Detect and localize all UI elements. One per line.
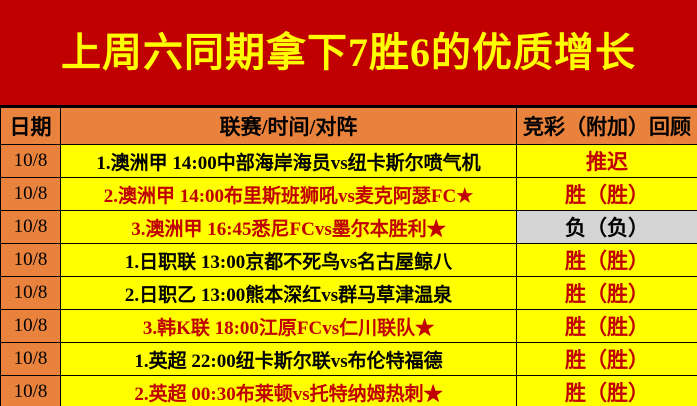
page-title: 上周六同期拿下7胜6的优质增长 bbox=[61, 33, 636, 73]
cell-match: 1.日职联 13:00京都不死鸟vs名古屋鲸八 bbox=[61, 244, 517, 277]
cell-date: 10/8 bbox=[1, 178, 61, 211]
table-body: 10/81.澳洲甲 14:00中部海岸海员vs纽卡斯尔喷气机推迟10/82.澳洲… bbox=[1, 145, 697, 406]
cell-match: 3.韩K联 18:00江原FCvs仁川联队★ bbox=[61, 310, 517, 343]
fixtures-table: 日期 联赛/时间/对阵 竞彩（附加）回顾 10/81.澳洲甲 14:00中部海岸… bbox=[0, 107, 697, 406]
cell-result: 胜（胜） bbox=[517, 244, 697, 277]
cell-date: 10/8 bbox=[1, 310, 61, 343]
column-header-date: 日期 bbox=[1, 108, 61, 145]
table-row: 10/82.日职乙 13:00熊本深红vs群马草津温泉胜（胜） bbox=[1, 277, 697, 310]
table-row: 10/81.日职联 13:00京都不死鸟vs名古屋鲸八胜（胜） bbox=[1, 244, 697, 277]
table-header-row: 日期 联赛/时间/对阵 竞彩（附加）回顾 bbox=[1, 108, 697, 145]
cell-match: 1.澳洲甲 14:00中部海岸海员vs纽卡斯尔喷气机 bbox=[61, 145, 517, 178]
cell-date: 10/8 bbox=[1, 145, 61, 178]
cell-date: 10/8 bbox=[1, 343, 61, 376]
cell-match: 2.英超 00:30布莱顿vs托特纳姆热刺★ bbox=[61, 376, 517, 406]
cell-date: 10/8 bbox=[1, 376, 61, 406]
cell-result: 负（负） bbox=[517, 211, 697, 244]
table-row: 10/81.英超 22:00纽卡斯尔联vs布伦特福德胜（胜） bbox=[1, 343, 697, 376]
cell-match: 2.澳洲甲 14:00布里斯班狮吼vs麦克阿瑟FC★ bbox=[61, 178, 517, 211]
table-row: 10/83.韩K联 18:00江原FCvs仁川联队★胜（胜） bbox=[1, 310, 697, 343]
table-row: 10/82.英超 00:30布莱顿vs托特纳姆热刺★胜（胜） bbox=[1, 376, 697, 406]
cell-result: 胜（胜） bbox=[517, 310, 697, 343]
column-header-match: 联赛/时间/对阵 bbox=[61, 108, 517, 145]
table-row: 10/83.澳洲甲 16:45悉尼FCvs墨尔本胜利★负（负） bbox=[1, 211, 697, 244]
title-banner: 上周六同期拿下7胜6的优质增长 bbox=[0, 0, 697, 107]
column-header-result: 竞彩（附加）回顾 bbox=[517, 108, 697, 145]
cell-match: 3.澳洲甲 16:45悉尼FCvs墨尔本胜利★ bbox=[61, 211, 517, 244]
table-row: 10/81.澳洲甲 14:00中部海岸海员vs纽卡斯尔喷气机推迟 bbox=[1, 145, 697, 178]
cell-result: 胜（胜） bbox=[517, 376, 697, 406]
cell-result: 胜（胜） bbox=[517, 343, 697, 376]
cell-result: 胜（胜） bbox=[517, 277, 697, 310]
cell-result: 胜（胜） bbox=[517, 178, 697, 211]
cell-date: 10/8 bbox=[1, 211, 61, 244]
cell-result: 推迟 bbox=[517, 145, 697, 178]
cell-match: 2.日职乙 13:00熊本深红vs群马草津温泉 bbox=[61, 277, 517, 310]
cell-match: 1.英超 22:00纽卡斯尔联vs布伦特福德 bbox=[61, 343, 517, 376]
fixtures-table-container: 日期 联赛/时间/对阵 竞彩（附加）回顾 10/81.澳洲甲 14:00中部海岸… bbox=[0, 107, 697, 406]
cell-date: 10/8 bbox=[1, 277, 61, 310]
table-row: 10/82.澳洲甲 14:00布里斯班狮吼vs麦克阿瑟FC★胜（胜） bbox=[1, 178, 697, 211]
cell-date: 10/8 bbox=[1, 244, 61, 277]
screenshot-root: 上周六同期拿下7胜6的优质增长 日期 联赛/时间/对阵 竞彩（附加）回顾 10/… bbox=[0, 0, 697, 406]
